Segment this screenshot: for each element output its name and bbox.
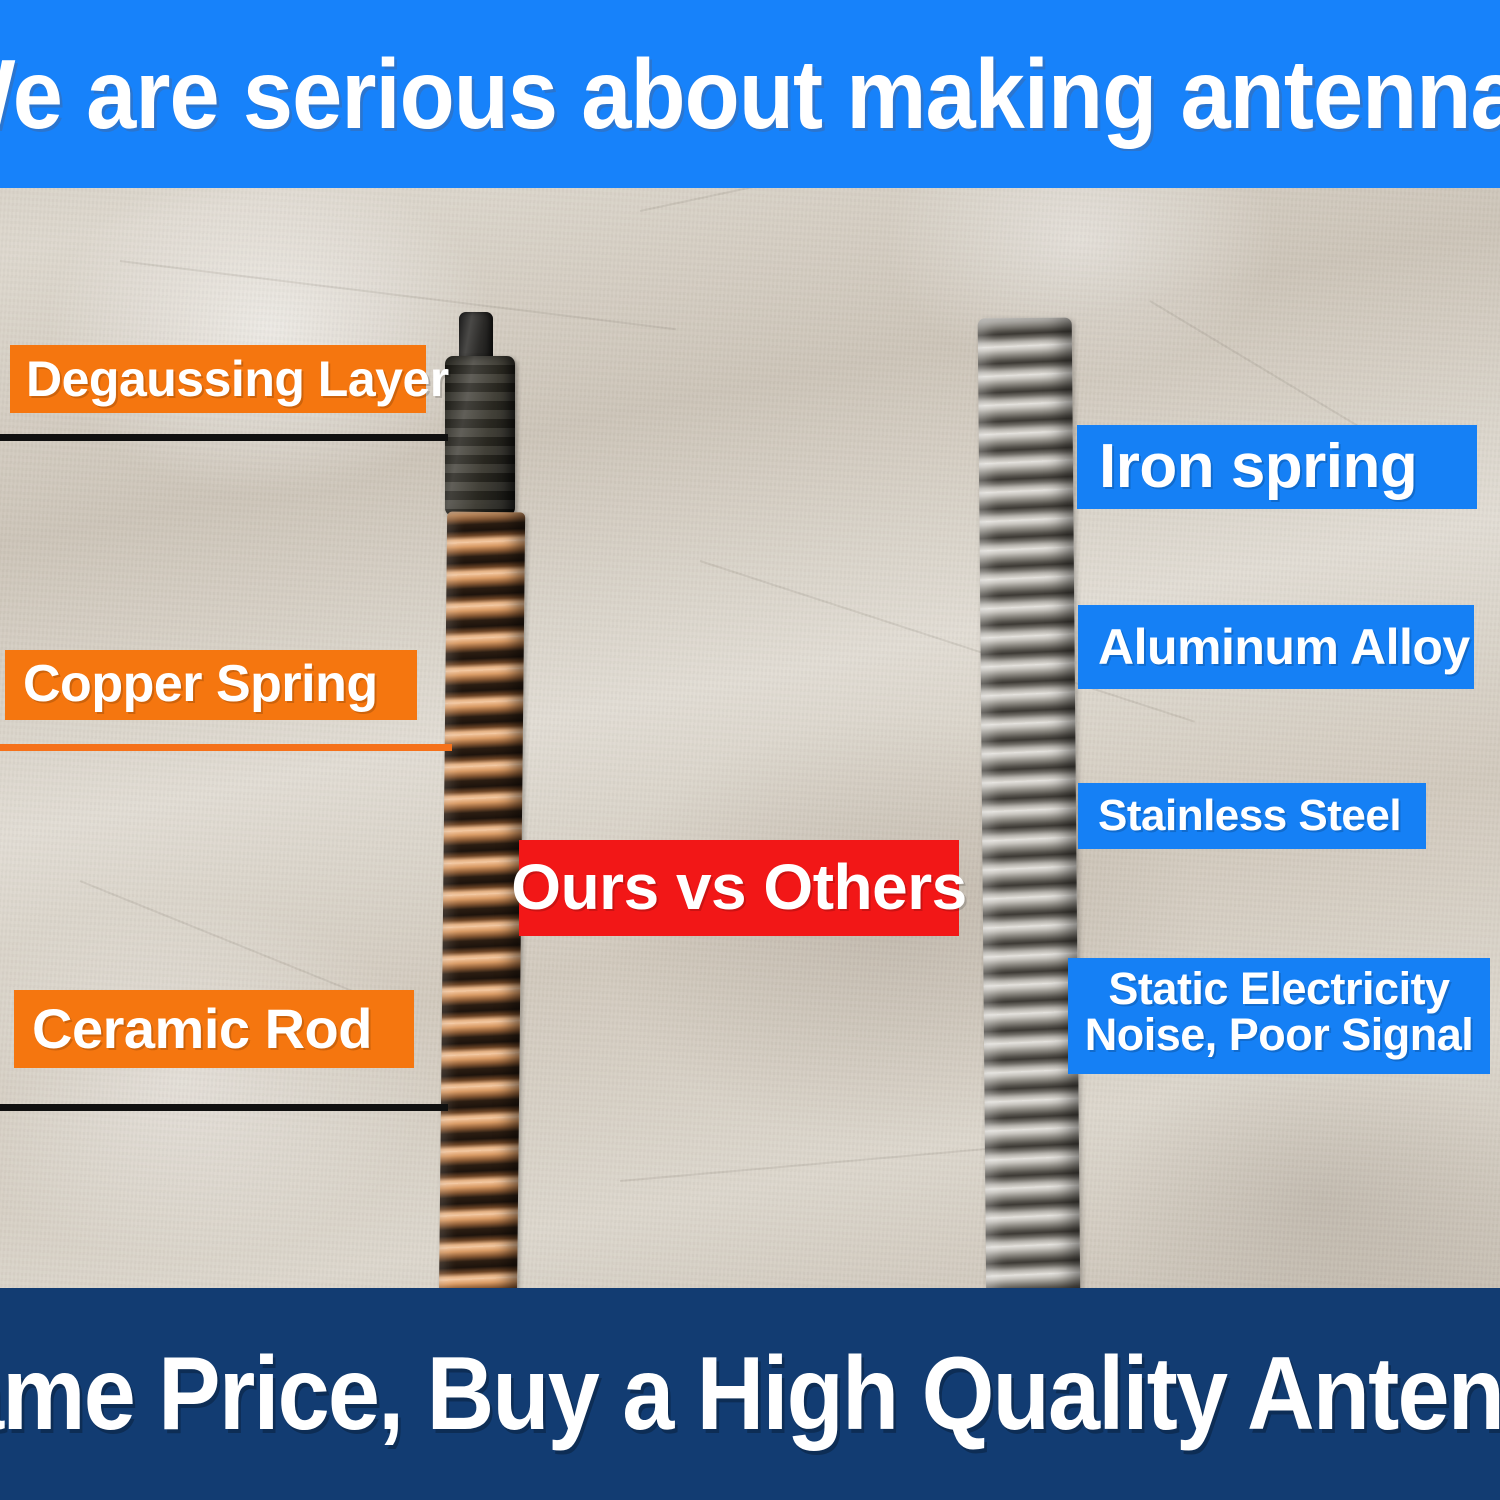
antenna-tip-nub xyxy=(459,312,493,360)
callout-copper-spring-label: Copper Spring xyxy=(23,658,378,711)
top-headline-banner: We are serious about making antennas xyxy=(0,0,1500,188)
leader-line-degaussing-layer xyxy=(0,434,448,441)
callout-iron-spring[interactable]: Iron spring xyxy=(1077,425,1477,509)
copper-antenna-product xyxy=(433,312,537,1302)
callout-static-electricity-line1: Static Electricity xyxy=(1068,966,1490,1012)
callout-static-electricity-line2: Noise, Poor Signal xyxy=(1068,1012,1490,1058)
leader-line-copper-spring xyxy=(0,744,452,751)
callout-aluminum-alloy-label: Aluminum Alloy xyxy=(1098,622,1470,673)
callout-stainless-steel[interactable]: Stainless Steel xyxy=(1078,783,1426,849)
iron-spring-product xyxy=(982,318,1080,1303)
degaussing-layer-cap xyxy=(445,356,515,516)
callout-stainless-steel-label: Stainless Steel xyxy=(1098,794,1401,839)
leader-line-ceramic-rod xyxy=(0,1104,448,1111)
ours-vs-others-badge-label: Ours vs Others xyxy=(511,855,966,920)
callout-ceramic-rod-label: Ceramic Rod xyxy=(32,1000,372,1057)
callout-ceramic-rod[interactable]: Ceramic Rod xyxy=(14,990,414,1068)
product-infographic-poster: Degaussing Layer Copper Spring Ceramic R… xyxy=(0,0,1500,1500)
callout-aluminum-alloy[interactable]: Aluminum Alloy xyxy=(1078,605,1474,689)
bottom-headline-banner: Same Price, Buy a High Quality Antenna xyxy=(0,1288,1500,1500)
top-headline-text: We are serious about making antennas xyxy=(0,45,1500,143)
bottom-headline-text: Same Price, Buy a High Quality Antenna xyxy=(0,1342,1500,1446)
ours-vs-others-badge[interactable]: Ours vs Others xyxy=(519,840,959,936)
callout-static-electricity[interactable]: Static Electricity Noise, Poor Signal xyxy=(1068,958,1490,1074)
callout-iron-spring-label: Iron spring xyxy=(1099,435,1417,498)
callout-degaussing-layer[interactable]: Degaussing Layer xyxy=(10,345,426,413)
iron-spring-coil xyxy=(978,318,1081,1304)
callout-copper-spring[interactable]: Copper Spring xyxy=(5,650,417,720)
callout-degaussing-layer-label: Degaussing Layer xyxy=(26,354,449,405)
